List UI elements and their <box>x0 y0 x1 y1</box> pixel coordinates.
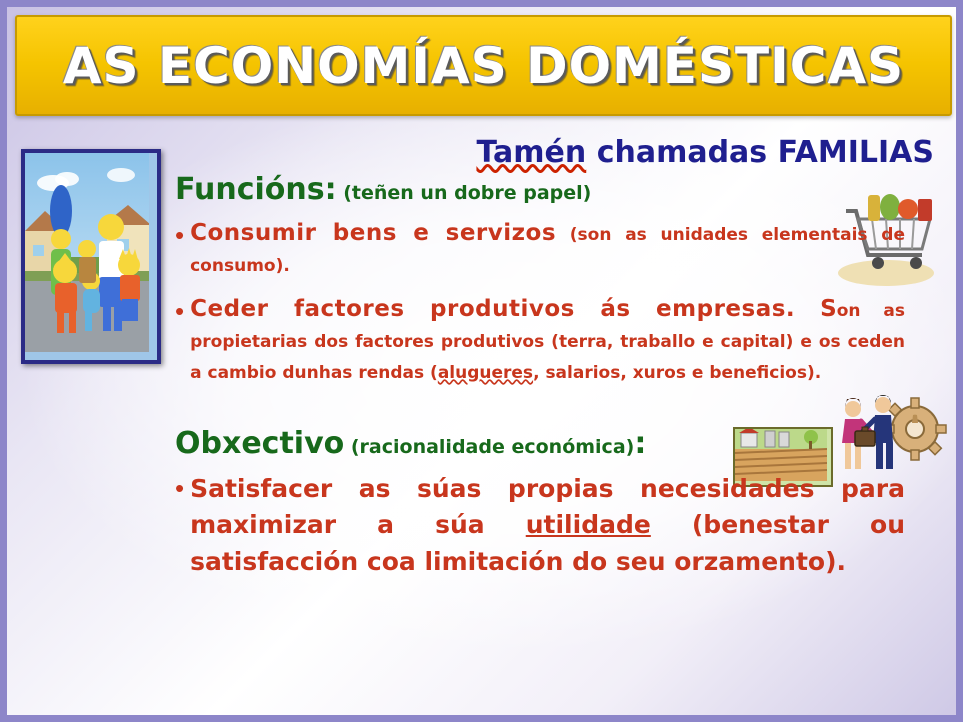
heading-funcions-main: Funcións: <box>175 172 337 207</box>
slide: AS ECONOMÍAS DOMÉSTICAS Tamén chamadas F… <box>0 0 963 722</box>
bullet-dot-icon: • <box>175 222 184 248</box>
heading-obxectivo-colon: : <box>634 426 646 461</box>
heading-funcions-paren: (teñen un dobre papel) <box>337 182 592 204</box>
bullet-2-text: Ceder factores produtivos ás empresas. S… <box>190 294 905 387</box>
bullet-dot-icon: • <box>175 298 184 324</box>
bullet-2-initial: S <box>795 296 837 322</box>
bullet-1-text: Consumir bens e servizos (son as unidade… <box>190 218 905 280</box>
list-item: • Satisfacer as súas propias necesidades… <box>175 471 905 580</box>
list-item: • Consumir bens e servizos (son as unida… <box>175 218 905 280</box>
bullet-dot-icon: • <box>175 475 184 501</box>
page-title: AS ECONOMÍAS DOMÉSTICAS <box>63 37 904 95</box>
bullet-2-rest-b: , salarios, xuros e beneficios). <box>533 363 821 383</box>
heading-obxectivo-main: Obxectivo <box>175 426 344 461</box>
simpsons-family-photo <box>21 149 161 364</box>
subtitle: Tamén chamadas FAMILIAS <box>476 135 934 170</box>
bullet-3-text: Satisfacer as súas propias necesidades p… <box>190 471 905 580</box>
simpsons-illustration <box>25 153 149 352</box>
list-item: • Ceder factores produtivos ás empresas.… <box>175 294 905 387</box>
bullet-1-lead: Consumir bens e servizos <box>190 220 556 246</box>
bullet-3-underlined-word: utilidade <box>526 510 651 539</box>
title-banner: AS ECONOMÍAS DOMÉSTICAS <box>15 15 952 116</box>
slide-content: Funcións: (teñen un dobre papel) • Consu… <box>175 173 905 580</box>
heading-funcions: Funcións: (teñen un dobre papel) <box>175 173 905 208</box>
heading-obxectivo-paren: (racionalidade económica) <box>344 436 634 458</box>
bullet-2-underlined-word: alugueres <box>438 363 533 383</box>
subtitle-underlined-word: Tamén <box>476 135 586 170</box>
subtitle-rest: chamadas FAMILIAS <box>586 135 934 170</box>
bullet-2-lead: Ceder factores produtivos ás empresas. <box>190 296 795 322</box>
heading-obxectivo: Obxectivo (racionalidade económica): <box>175 427 905 462</box>
